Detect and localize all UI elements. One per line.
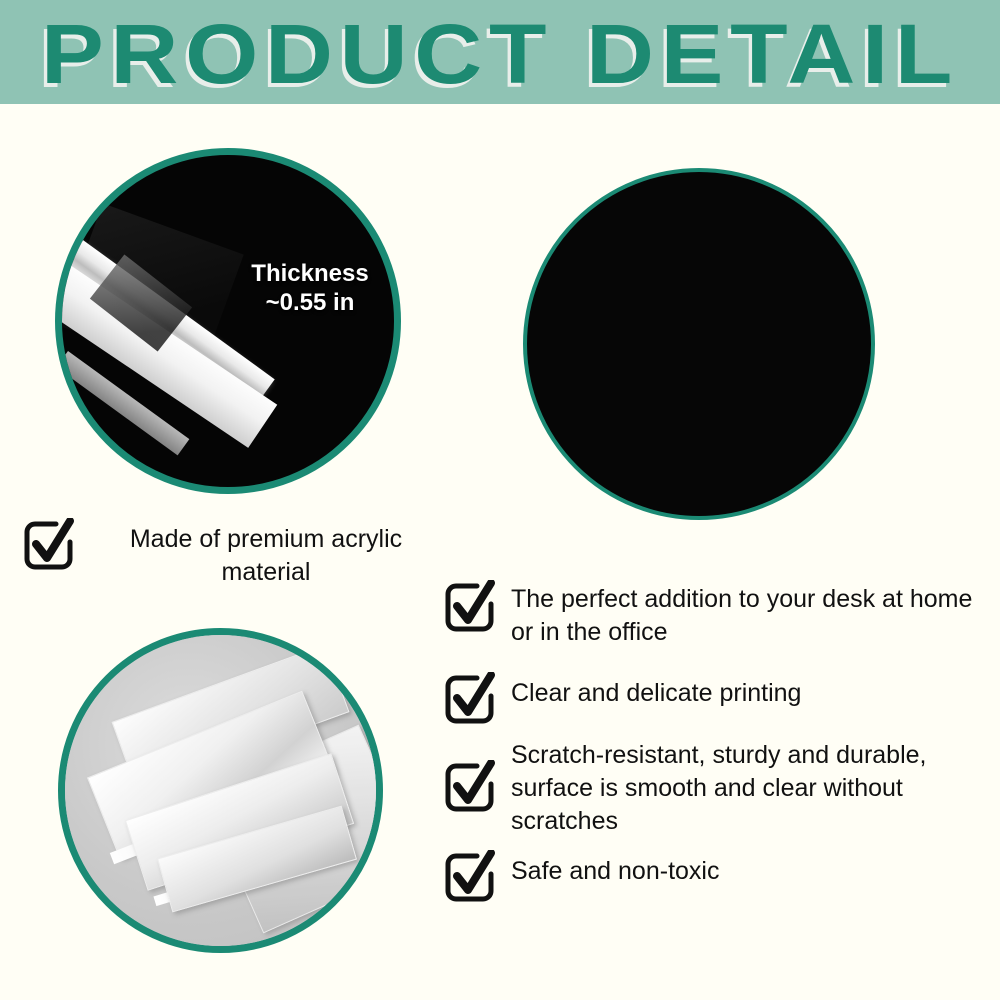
feature-item: The perfect addition to your desk at hom… [443, 578, 983, 649]
checkbox-checked-icon [22, 518, 76, 572]
black-product-photo [523, 168, 875, 520]
thickness-label-line-1: Thickness [230, 259, 390, 288]
thickness-label: Thickness ~0.55 in [230, 259, 390, 317]
feature-item: Made of premium acrylic material [22, 518, 442, 589]
checkbox-checked-icon [443, 672, 497, 726]
thickness-closeup-image: Thickness ~0.55 in [55, 148, 401, 494]
feature-item: Scratch-resistant, sturdy and durable, s… [443, 734, 983, 838]
feature-label: Scratch-resistant, sturdy and durable, s… [511, 734, 983, 838]
feature-item: Safe and non-toxic [443, 850, 983, 904]
header-banner: PRODUCT DETAIL [0, 0, 1000, 104]
feature-label: Safe and non-toxic [511, 850, 719, 888]
thickness-label-line-2: ~0.55 in [230, 288, 390, 317]
feature-label: The perfect addition to your desk at hom… [511, 578, 983, 649]
feature-label: Clear and delicate printing [511, 672, 801, 710]
feature-label: Made of premium acrylic material [90, 518, 442, 589]
checkbox-checked-icon [443, 760, 497, 814]
feature-item: Clear and delicate printing [443, 672, 983, 726]
checkbox-checked-icon [443, 850, 497, 904]
page-title: PRODUCT DETAIL [0, 6, 1000, 102]
checkbox-checked-icon [443, 580, 497, 634]
acrylic-sheets-photo [58, 628, 383, 953]
